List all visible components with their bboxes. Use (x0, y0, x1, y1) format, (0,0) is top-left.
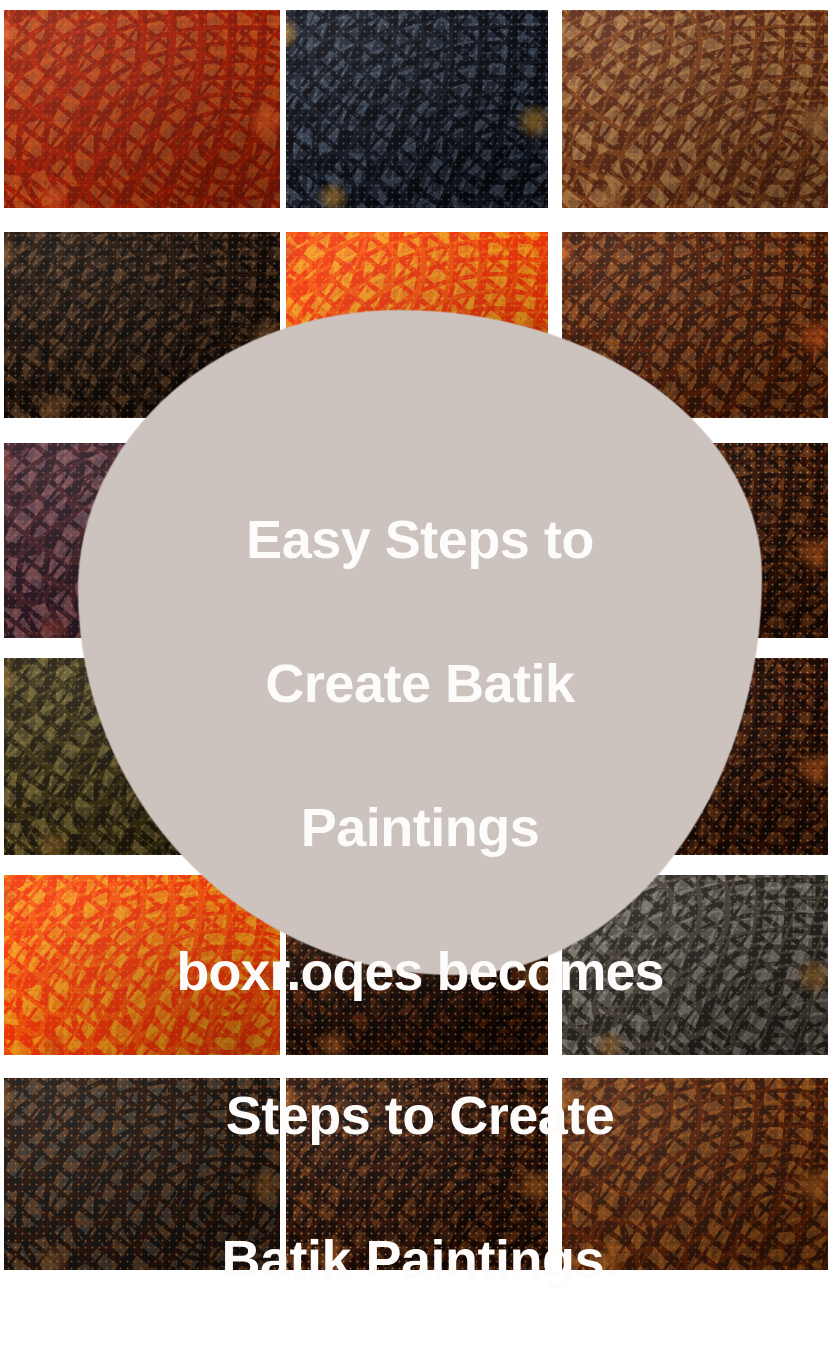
headline-line-6: Batik Paintings. (78, 1224, 762, 1296)
swatch-shading (286, 10, 548, 208)
headline-line-1: Easy Steps to (78, 504, 762, 576)
headline-text: Easy Steps to Create Batik Paintings box… (78, 432, 762, 1368)
pinterest-pin-graphic: Easy Steps to Create Batik Paintings box… (0, 0, 832, 1280)
headline-line-4: boxr.oqes becomes (78, 936, 762, 1008)
batik-swatch (562, 10, 828, 208)
batik-swatch (4, 10, 280, 208)
swatch-shading (4, 10, 280, 208)
swatch-shading (562, 10, 828, 208)
headline-line-3: Paintings (78, 792, 762, 864)
headline-line-2: Create Batik (78, 648, 762, 720)
headline-line-5: Steps to Create (78, 1080, 762, 1152)
batik-swatch (286, 10, 548, 208)
